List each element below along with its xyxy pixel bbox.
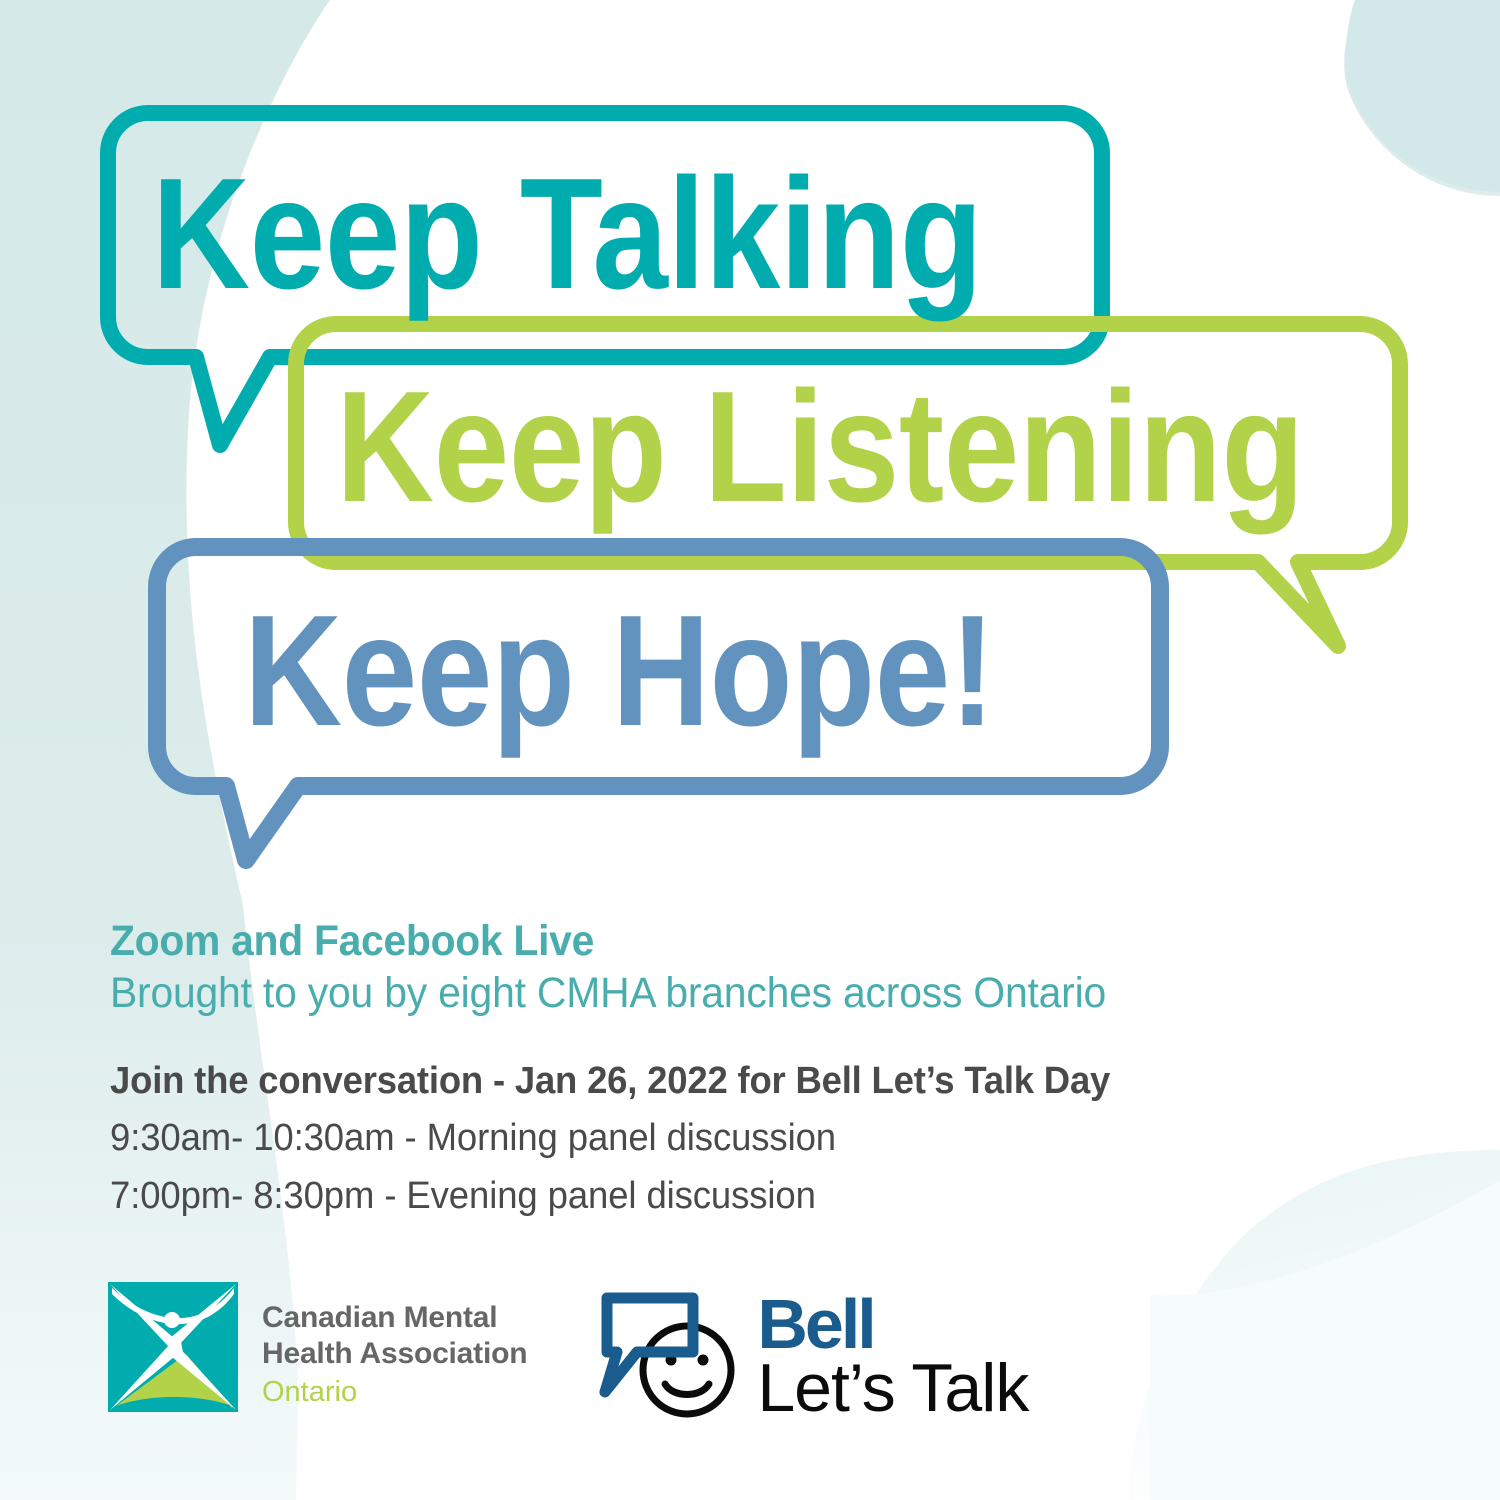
bubble-label-keep-hope: Keep Hope!	[244, 592, 995, 750]
schedule-session-evening: 7:00pm- 8:30pm - Evening panel discussio…	[110, 1168, 1110, 1226]
poster-canvas: Keep Talking Keep Listening Keep Hope! Z…	[0, 0, 1500, 1500]
speech-bubble-smiley-icon	[597, 1286, 749, 1426]
bell-wordmark: Bell Let’s Talk	[757, 1286, 1028, 1422]
platform-headline: Zoom and Facebook Live	[110, 915, 1106, 967]
bubble-label-keep-listening: Keep Listening	[336, 368, 1304, 526]
cmha-name-line-1: Canadian Mental	[262, 1300, 527, 1336]
cmha-province: Ontario	[262, 1374, 527, 1410]
schedule-block: Join the conversation - Jan 26, 2022 for…	[110, 1053, 1152, 1226]
schedule-heading: Join the conversation - Jan 26, 2022 for…	[110, 1053, 1110, 1110]
schedule-session-morning: 9:30am- 10:30am - Morning panel discussi…	[110, 1110, 1110, 1168]
cmha-logo: Canadian Mental Health Association Ontar…	[108, 1282, 527, 1412]
bell-brand: Bell	[757, 1292, 1028, 1356]
logo-row: Canadian Mental Health Association Ontar…	[108, 1282, 1028, 1426]
blob-bottom-band	[1150, 1180, 1500, 1500]
bell-lets-talk-logo: Bell Let’s Talk	[597, 1282, 1028, 1426]
blob-top-right-mass	[1346, 0, 1500, 192]
blob-bottom-right	[1130, 1150, 1500, 1500]
platform-block: Zoom and Facebook Live Brought to you by…	[110, 915, 1158, 1021]
cmha-wordmark: Canadian Mental Health Association Ontar…	[262, 1282, 527, 1410]
blob-top-right	[1344, 0, 1500, 196]
bubble-label-keep-talking: Keep Talking	[152, 155, 982, 313]
cmha-name-line-2: Health Association	[262, 1336, 527, 1372]
bell-tagline: Let’s Talk	[757, 1354, 1028, 1422]
cmha-person-square-icon	[108, 1282, 238, 1412]
platform-subline: Brought to you by eight CMHA branches ac…	[110, 967, 1106, 1021]
